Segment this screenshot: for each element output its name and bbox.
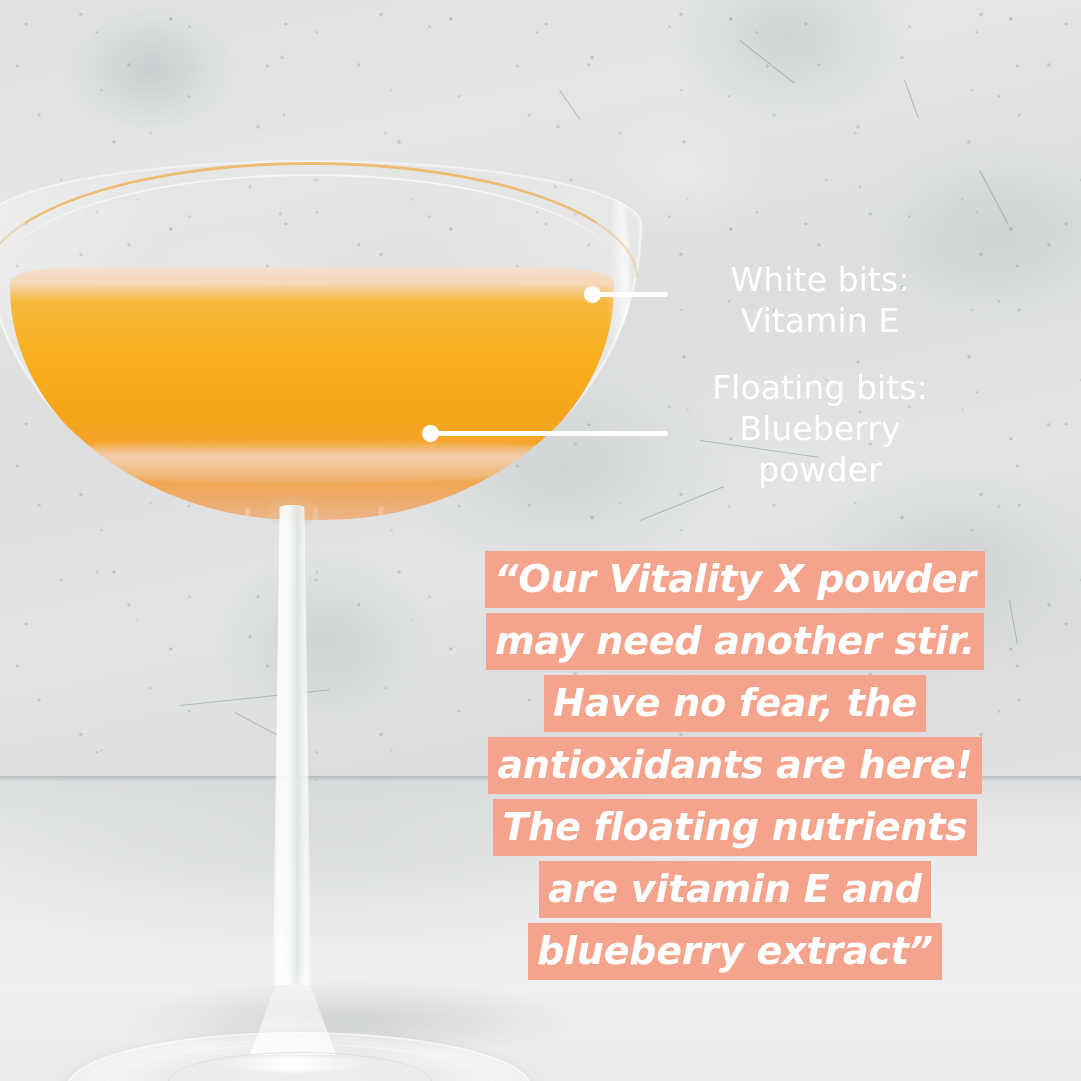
quote-line: antioxidants are here! [488,737,981,794]
bowl-right-highlight [608,190,630,440]
quote-line: “Our Vitality X powder [485,551,985,608]
orange-liquid [10,268,614,520]
bowl-left-highlight [0,200,2,430]
quote-line: The floating nutrients [493,799,976,856]
glass-stem [270,505,314,1005]
screenshot-canvas: White bits: Vitamin E Floating bits: Blu… [0,0,1081,1081]
glass-foot-highlight [218,1056,368,1072]
callout-line-blueberry [434,431,668,436]
callout-line-vitamin-e [596,292,668,297]
liquid-surface-reflection [22,440,582,482]
callout-label-blueberry: Floating bits: Blueberry powder [655,368,985,491]
callout-label-vitamin-e: White bits: Vitamin E [660,260,980,342]
quote-line: are vitamin E and [539,861,931,918]
quote-block: “Our Vitality X powder may need another … [415,551,1055,985]
quote-line: may need another stir. [486,613,984,670]
quote-line: Have no fear, the [544,675,926,732]
quote-line: blueberry extract” [528,923,942,980]
